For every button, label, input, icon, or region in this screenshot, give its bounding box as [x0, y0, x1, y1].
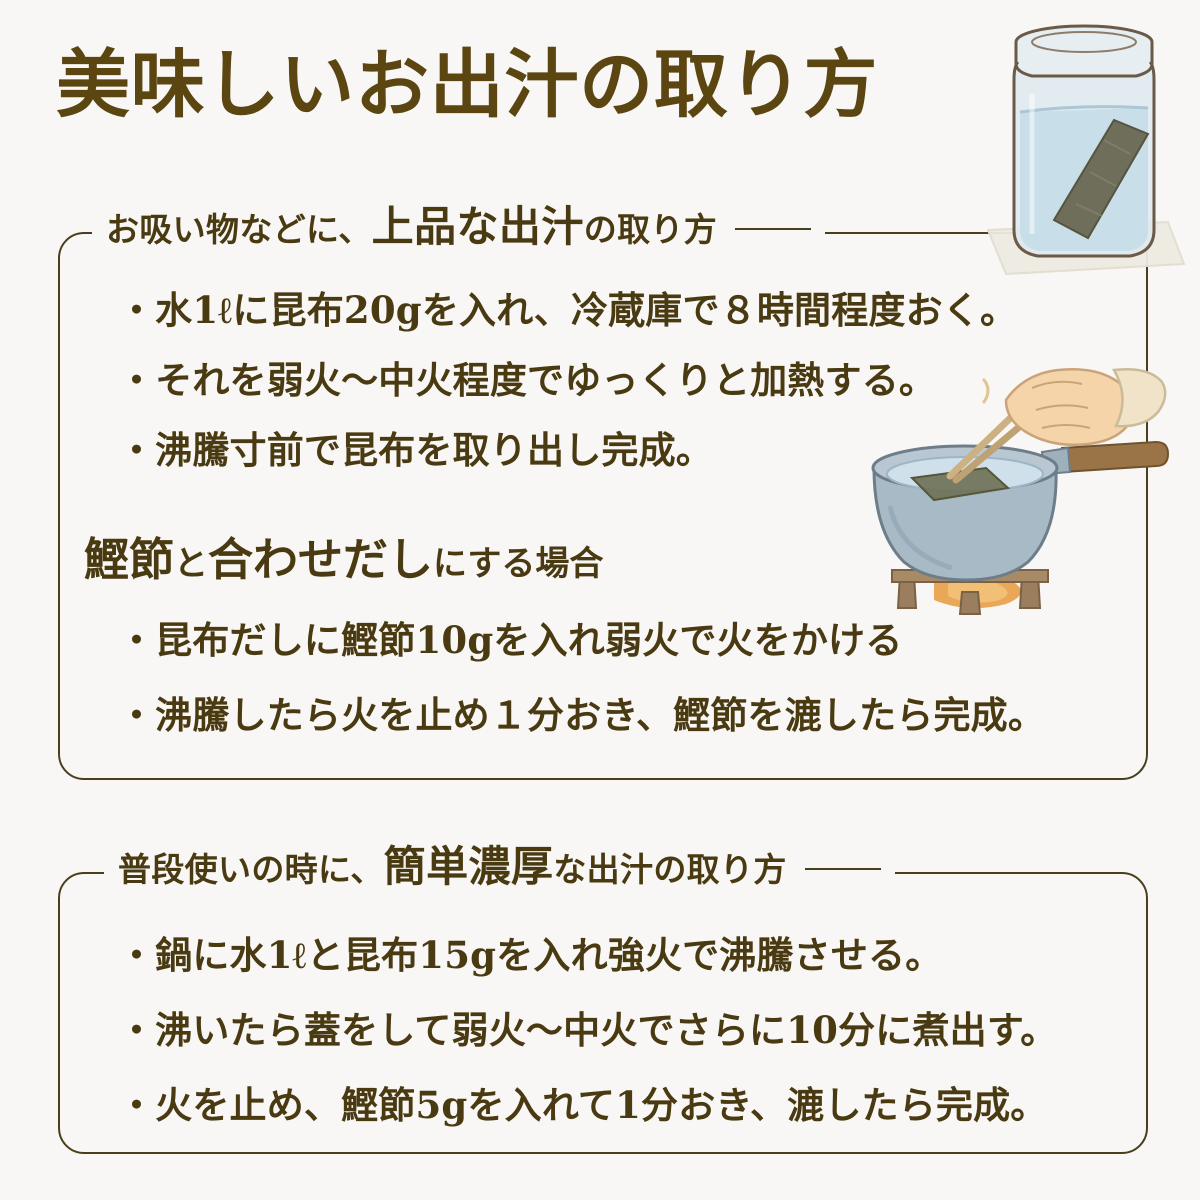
list-item: ・それを弱火〜中火程度でゆっくりと加熱する。	[118, 362, 936, 399]
list-item: ・沸騰したら火を止め１分おき、鰹節を漉したら完成。	[118, 697, 1045, 734]
sub-heading-part-2: と	[174, 547, 208, 581]
section-2-header-prefix: 普段使いの時に、	[118, 853, 384, 886]
sub-heading-part-4: にする場合	[433, 547, 603, 581]
saucepan-with-kombu-and-chopsticks-illustration	[856, 356, 1200, 632]
sub-heading-part-3: 合わせだし	[208, 537, 433, 582]
section-1-header-rule	[735, 228, 811, 230]
sub-heading-part-1: 鰹節	[84, 537, 174, 582]
list-item: ・鍋に水1ℓと昆布15gを入れ強火で沸騰させる。	[118, 937, 942, 974]
list-item: ・水1ℓに昆布20gを入れ、冷蔵庫で８時間程度おく。	[118, 292, 1017, 329]
infographic-page: 美味しいお出汁の取り方 お吸い物などに、 上品な出汁 の取り方 ・水1ℓに昆布2…	[0, 0, 1200, 1200]
section-1-header-emphasis: 上品な出汁	[372, 206, 584, 248]
section-2-header-suffix: な出汁の取り方	[553, 853, 786, 886]
glass-jar-with-kombu-illustration	[962, 8, 1198, 284]
list-item: ・沸騰寸前で昆布を取り出し完成。	[118, 432, 713, 469]
section-1-header: お吸い物などに、 上品な出汁 の取り方	[92, 206, 825, 248]
list-item: ・火を止め、鰹節5gを入れて1分おき、漉したら完成。	[118, 1087, 1047, 1124]
section-2-header-emphasis: 簡単濃厚	[384, 846, 554, 888]
section-1-sub-heading: 鰹節 と 合わせだし にする場合	[84, 537, 603, 582]
page-title: 美味しいお出汁の取り方	[56, 44, 878, 127]
list-item: ・沸いたら蓋をして弱火〜中火でさらに10分に煮出す。	[118, 1012, 1058, 1049]
section-1-header-prefix: お吸い物などに、	[106, 213, 372, 246]
section-1-header-suffix: の取り方	[584, 213, 717, 246]
list-item: ・昆布だしに鰹節10gを入れ弱火で火をかける	[118, 622, 902, 659]
section-2-header-rule	[805, 868, 881, 870]
section-2-header: 普段使いの時に、 簡単濃厚 な出汁の取り方	[104, 846, 895, 888]
